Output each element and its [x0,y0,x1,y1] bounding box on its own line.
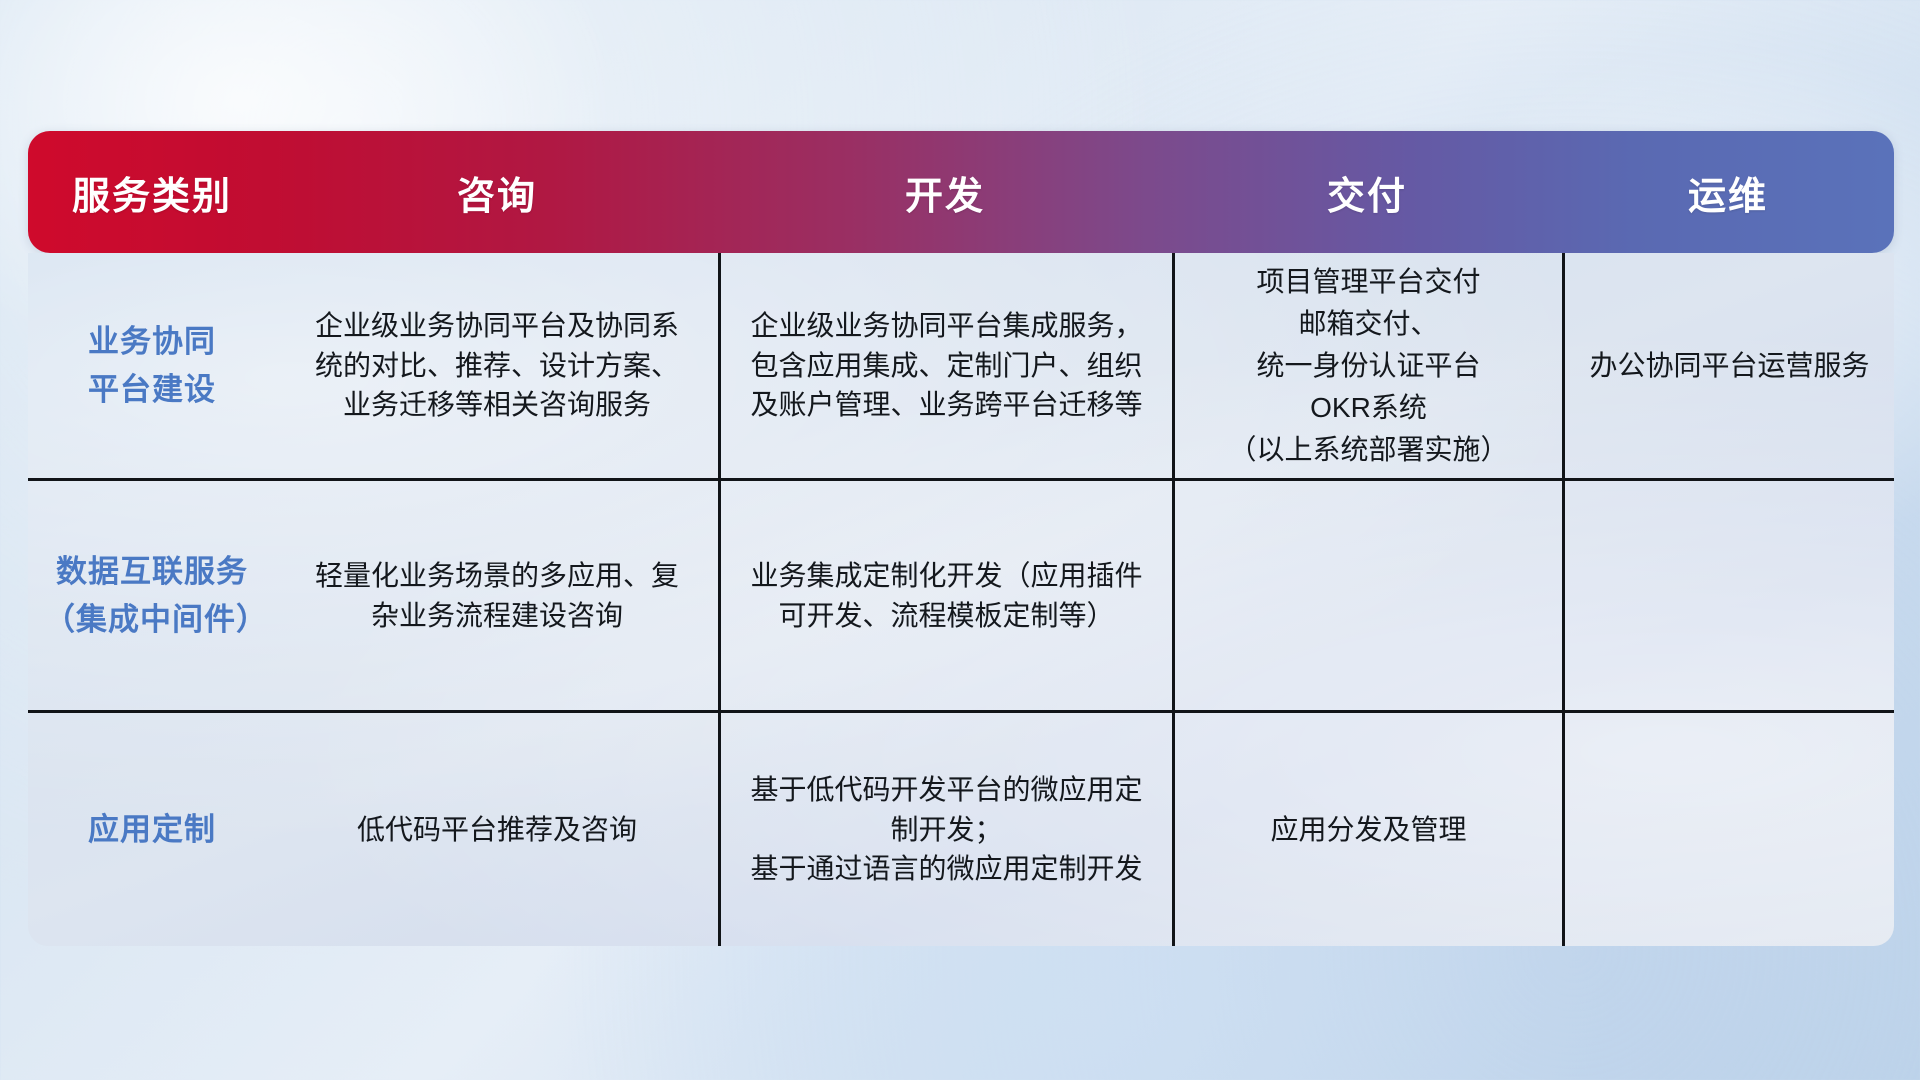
column-header-category: 服务类别 [28,131,276,253]
cell-consulting: 轻量化业务场景的多应用、复 杂业务流程建设咨询 [276,478,718,710]
row-category-label: 数据互联服务 （集成中间件） [44,548,260,642]
cell-text: 项目管理平台交付 邮箱交付、 统一身份认证平台 OKR系统 （以上系统部署实施） [1228,261,1508,471]
table-body: 业务协同 平台建设 企业级业务协同平台及协同系 统的对比、推荐、设计方案、 业务… [28,253,1894,946]
cell-text: 低代码平台推荐及咨询 [357,810,637,850]
column-header-development: 开发 [718,131,1172,253]
cell-text: 应用分发及管理 [1270,810,1466,850]
cell-operations: 办公协同平台运营服务 [1562,253,1894,478]
table-row: 数据互联服务 （集成中间件） 轻量化业务场景的多应用、复 杂业务流程建设咨询 业… [28,478,1894,710]
table-header-row: 服务类别 咨询 开发 交付 运维 [28,131,1894,253]
cell-delivery: 项目管理平台交付 邮箱交付、 统一身份认证平台 OKR系统 （以上系统部署实施） [1172,253,1562,478]
row-category-label: 业务协同 平台建设 [88,318,216,412]
cell-development: 基于低代码开发平台的微应用定 制开发； 基于通过语言的微应用定制开发 [718,710,1172,946]
row-category-cell: 业务协同 平台建设 [28,253,276,478]
cell-text: 企业级业务协同平台集成服务， 包含应用集成、定制门户、组织 及账户管理、业务跨平… [750,306,1142,425]
cell-text: 业务集成定制化开发（应用插件 可开发、流程模板定制等） [750,556,1142,636]
cell-delivery [1172,478,1562,710]
cell-text: 基于低代码开发平台的微应用定 制开发； 基于通过语言的微应用定制开发 [750,770,1142,889]
column-header-delivery: 交付 [1172,131,1562,253]
row-category-label: 应用定制 [88,806,216,853]
cell-operations [1562,478,1894,710]
column-header-consulting: 咨询 [276,131,718,253]
cell-delivery: 应用分发及管理 [1172,710,1562,946]
table-row: 应用定制 低代码平台推荐及咨询 基于低代码开发平台的微应用定 制开发； 基于通过… [28,710,1894,946]
cell-consulting: 企业级业务协同平台及协同系 统的对比、推荐、设计方案、 业务迁移等相关咨询服务 [276,253,718,478]
cell-operations [1562,710,1894,946]
cell-development: 业务集成定制化开发（应用插件 可开发、流程模板定制等） [718,478,1172,710]
row-category-cell: 数据互联服务 （集成中间件） [28,478,276,710]
column-header-operations: 运维 [1562,131,1894,253]
row-category-cell: 应用定制 [28,710,276,946]
cell-text: 企业级业务协同平台及协同系 统的对比、推荐、设计方案、 业务迁移等相关咨询服务 [315,306,679,425]
cell-development: 企业级业务协同平台集成服务， 包含应用集成、定制门户、组织 及账户管理、业务跨平… [718,253,1172,478]
table-row: 业务协同 平台建设 企业级业务协同平台及协同系 统的对比、推荐、设计方案、 业务… [28,253,1894,478]
cell-text: 办公协同平台运营服务 [1589,346,1869,386]
cell-text: 轻量化业务场景的多应用、复 杂业务流程建设咨询 [315,556,679,636]
cell-consulting: 低代码平台推荐及咨询 [276,710,718,946]
service-matrix-table: 服务类别 咨询 开发 交付 运维 业务协同 平台建设 企业级业务协同平台及协同系… [28,131,1894,946]
